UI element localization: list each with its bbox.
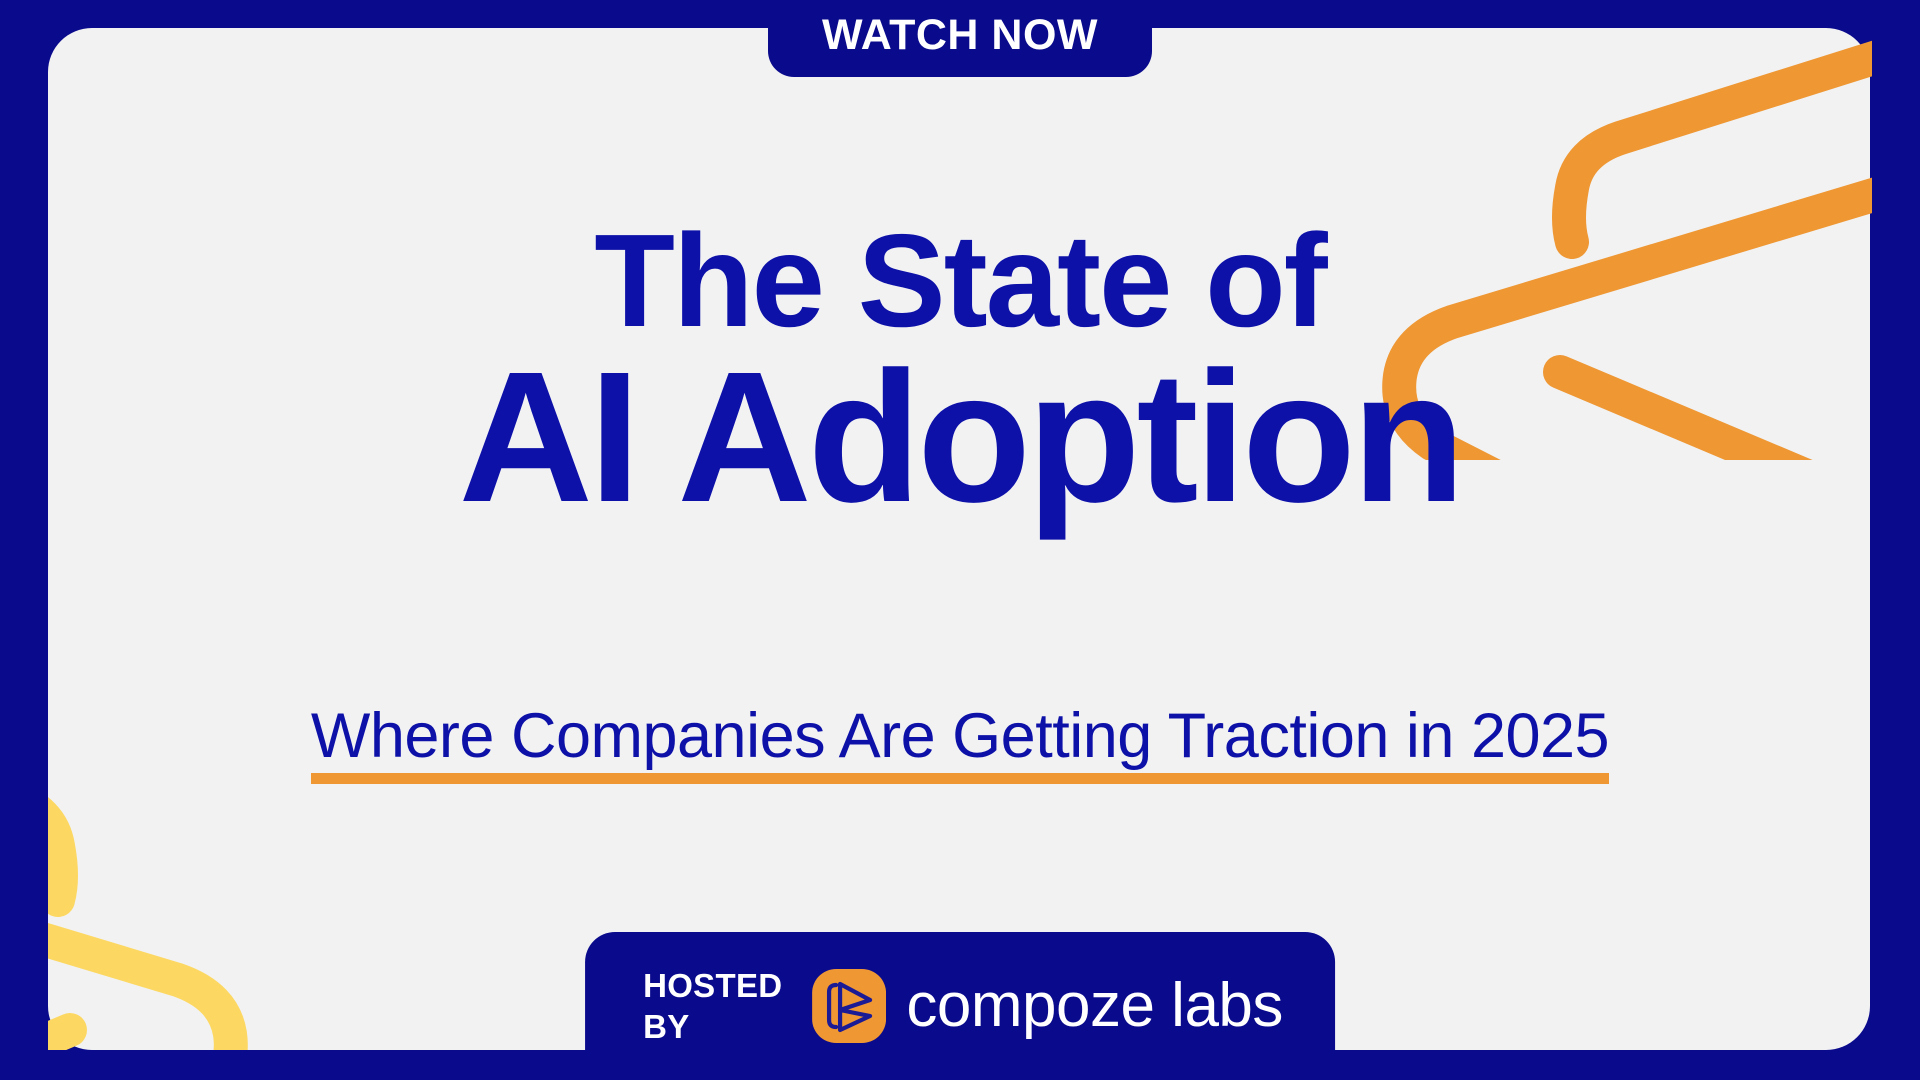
promo-banner: WATCH NOW The State of AI Adoption Where… xyxy=(0,0,1920,1080)
compoze-play-mark-icon xyxy=(812,969,886,1043)
brand-lockup[interactable]: compoze labs xyxy=(812,969,1283,1043)
brand-wordmark: compoze labs xyxy=(906,975,1283,1037)
title-line-1: The State of xyxy=(0,212,1920,349)
subtitle-text: Where Companies Are Getting Traction in … xyxy=(311,700,1609,778)
hosted-by-bar: HOSTED BY compoze labs xyxy=(585,932,1335,1080)
title-line-2: AI Adoption xyxy=(0,345,1920,531)
subtitle-container: Where Companies Are Getting Traction in … xyxy=(0,700,1920,778)
hosted-by-label: HOSTED BY xyxy=(643,965,782,1048)
frame-right xyxy=(1872,0,1920,1080)
watch-now-badge[interactable]: WATCH NOW xyxy=(768,0,1152,77)
page-title: The State of AI Adoption xyxy=(0,212,1920,531)
frame-left xyxy=(0,0,48,1080)
